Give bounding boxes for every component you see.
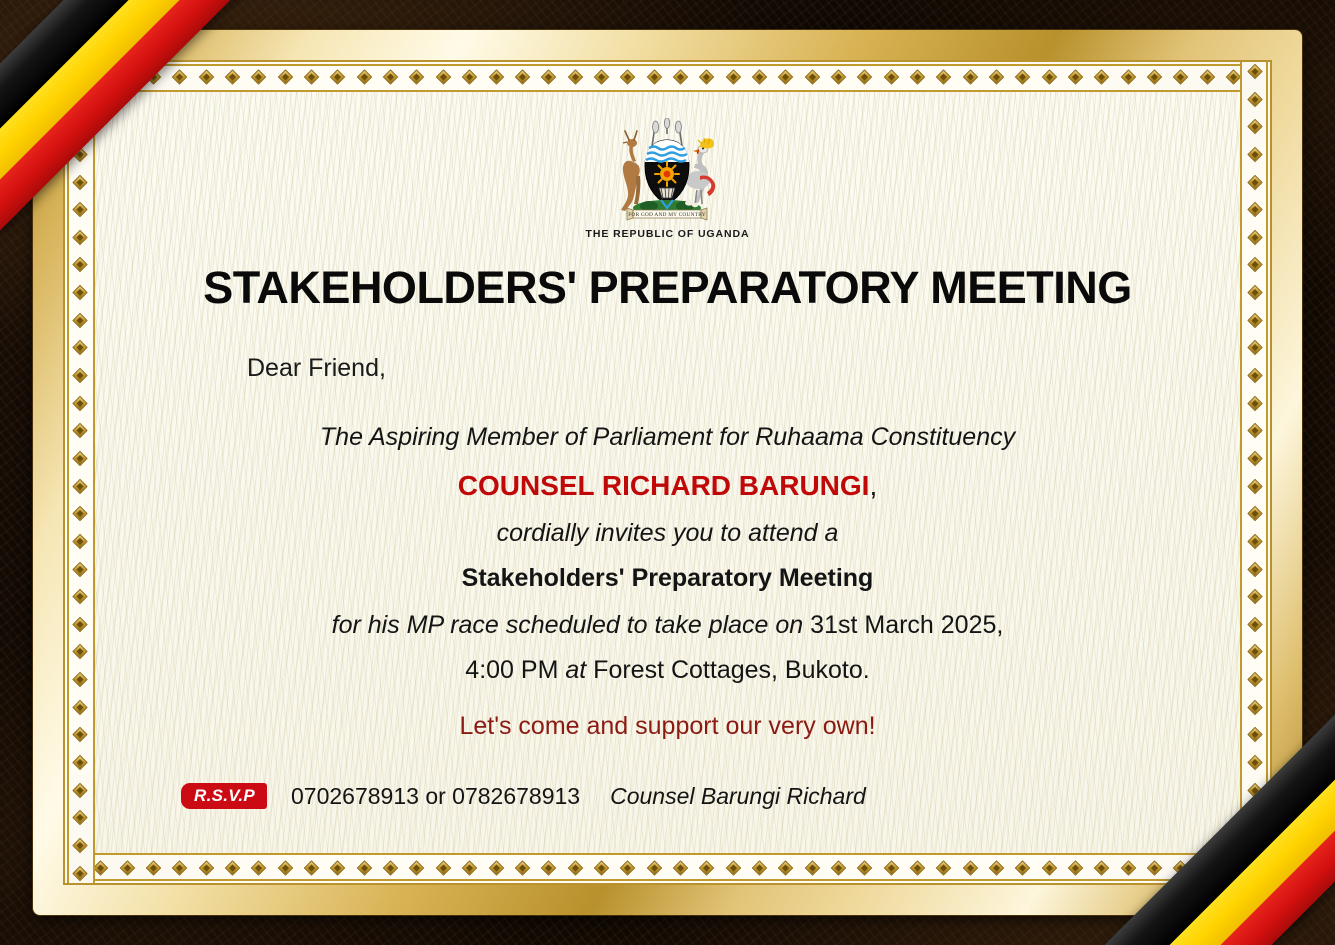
- border-motif-right: [1240, 62, 1270, 883]
- border-diamond: [93, 70, 109, 85]
- border-diamond: [1248, 230, 1263, 246]
- border-diamond: [251, 861, 267, 876]
- border-diamond: [1015, 70, 1031, 85]
- event-name-line: Stakeholders' Preparatory Meeting: [95, 564, 1240, 594]
- border-diamond: [357, 70, 373, 85]
- border-diamond: [1248, 589, 1263, 605]
- letter-body: The Aspiring Member of Parliament for Ru…: [95, 423, 1240, 741]
- border-diamond: [962, 70, 978, 85]
- call-to-action: Let's come and support our very own!: [95, 712, 1240, 741]
- border-diamond: [1248, 119, 1263, 135]
- border-diamond: [1248, 838, 1263, 854]
- purpose-text: for his MP race scheduled to take place …: [332, 611, 804, 639]
- border-diamond: [1248, 202, 1263, 218]
- border-diamond: [172, 70, 188, 85]
- border-diamond: [1248, 699, 1263, 715]
- border-diamond: [1094, 70, 1110, 85]
- border-diamond: [1248, 340, 1263, 356]
- border-diamond: [1248, 672, 1263, 688]
- border-diamond: [462, 70, 478, 85]
- border-diamond: [330, 861, 346, 876]
- border-diamond: [804, 70, 820, 85]
- border-diamond: [1248, 865, 1263, 881]
- paper-surface: FOR GOD AND MY COUNTRY THE REPUBLIC OF U…: [95, 92, 1240, 853]
- border-diamond: [1248, 147, 1263, 163]
- border-diamond: [541, 861, 557, 876]
- border-diamond: [620, 70, 636, 85]
- border-diamond: [594, 861, 610, 876]
- border-diamond: [73, 534, 88, 550]
- border-diamond: [73, 699, 88, 715]
- border-diamond: [910, 70, 926, 85]
- border-diamond: [699, 70, 715, 85]
- border-diamond: [1248, 506, 1263, 522]
- border-diamond: [73, 451, 88, 467]
- border-diamond: [1248, 534, 1263, 550]
- border-diamond: [883, 70, 899, 85]
- border-diamond: [146, 861, 162, 876]
- border-motif-left: [65, 62, 95, 883]
- border-diamond: [73, 589, 88, 605]
- border-diamond: [146, 70, 162, 85]
- border-diamond: [73, 91, 88, 107]
- border-diamond: [251, 70, 267, 85]
- border-diamond: [1248, 644, 1263, 660]
- border-diamond: [73, 810, 88, 826]
- border-diamond: [1248, 782, 1263, 798]
- border-diamond: [620, 861, 636, 876]
- border-diamond: [936, 861, 952, 876]
- border-diamond: [73, 865, 88, 881]
- border-diamond: [73, 672, 88, 688]
- border-diamond: [1248, 174, 1263, 190]
- border-diamond: [936, 70, 952, 85]
- rsvp-phone-numbers[interactable]: 0702678913 or 0782678913: [291, 783, 580, 810]
- event-date: 31st March 2025,: [810, 611, 1003, 639]
- border-diamond: [1248, 285, 1263, 301]
- rsvp-signature: Counsel Barungi Richard: [610, 783, 866, 810]
- border-diamond: [73, 312, 88, 328]
- border-diamond: [1248, 64, 1263, 80]
- border-diamond: [73, 174, 88, 190]
- border-diamond: [1173, 861, 1189, 876]
- border-diamond: [699, 861, 715, 876]
- border-diamond: [488, 861, 504, 876]
- border-diamond: [778, 70, 794, 85]
- shield-icon: [645, 140, 689, 204]
- border-diamond: [73, 478, 88, 494]
- gold-frame: FOR GOD AND MY COUNTRY THE REPUBLIC OF U…: [33, 30, 1302, 915]
- frame-inner-rule: FOR GOD AND MY COUNTRY THE REPUBLIC OF U…: [63, 60, 1272, 885]
- border-diamond: [831, 70, 847, 85]
- border-diamond: [594, 70, 610, 85]
- invitation-card: FOR GOD AND MY COUNTRY THE REPUBLIC OF U…: [0, 0, 1335, 945]
- border-diamond: [436, 70, 452, 85]
- border-diamond: [883, 861, 899, 876]
- border-diamond: [831, 861, 847, 876]
- border-diamond: [1068, 70, 1084, 85]
- border-diamond: [73, 782, 88, 798]
- at-word: at: [565, 656, 586, 684]
- border-diamond: [1147, 70, 1163, 85]
- border-diamond: [673, 861, 689, 876]
- motto-text: FOR GOD AND MY COUNTRY: [629, 212, 707, 218]
- border-diamond: [73, 119, 88, 135]
- kob-antelope-icon: [621, 131, 640, 211]
- sun-icon: [655, 162, 679, 186]
- border-diamond: [1248, 755, 1263, 771]
- border-diamond: [1248, 451, 1263, 467]
- border-diamond: [1248, 561, 1263, 577]
- border-diamond: [646, 70, 662, 85]
- border-diamond: [1200, 861, 1216, 876]
- border-diamond: [93, 861, 109, 876]
- host-name-comma: ,: [869, 470, 877, 501]
- border-diamond: [541, 70, 557, 85]
- border-diamond: [515, 70, 531, 85]
- host-name: COUNSEL RICHARD BARUNGI: [458, 470, 870, 501]
- border-diamond: [304, 861, 320, 876]
- border-diamond: [752, 861, 768, 876]
- border-diamond: [1068, 861, 1084, 876]
- border-diamond: [962, 861, 978, 876]
- border-diamond: [73, 340, 88, 356]
- border-diamond: [1015, 861, 1031, 876]
- border-diamond: [1248, 617, 1263, 633]
- border-diamond: [383, 70, 399, 85]
- border-diamond: [567, 70, 583, 85]
- border-diamond: [1094, 861, 1110, 876]
- motto-ribbon: FOR GOD AND MY COUNTRY: [627, 208, 707, 220]
- intro-line: The Aspiring Member of Parliament for Ru…: [95, 423, 1240, 453]
- border-diamond: [1248, 395, 1263, 411]
- border-diamond: [73, 755, 88, 771]
- border-diamond: [330, 70, 346, 85]
- border-diamond: [277, 861, 293, 876]
- border-diamond: [515, 861, 531, 876]
- border-diamond: [1173, 70, 1189, 85]
- event-venue: Forest Cottages, Bukoto.: [593, 656, 870, 684]
- border-diamond: [73, 644, 88, 660]
- border-diamond: [73, 506, 88, 522]
- border-diamond: [73, 561, 88, 577]
- border-diamond: [673, 70, 689, 85]
- border-diamond: [488, 70, 504, 85]
- border-diamond: [910, 861, 926, 876]
- border-diamond: [73, 202, 88, 218]
- border-diamond: [646, 861, 662, 876]
- border-diamond: [304, 70, 320, 85]
- border-diamond: [73, 64, 88, 80]
- border-diamond: [1120, 861, 1136, 876]
- border-diamond: [1041, 861, 1057, 876]
- venue-line: 4:00 PM at Forest Cottages, Bukoto.: [95, 656, 1240, 686]
- border-diamond: [409, 861, 425, 876]
- border-diamond: [73, 617, 88, 633]
- border-diamond: [73, 838, 88, 854]
- border-diamond: [1248, 91, 1263, 107]
- border-diamond: [436, 861, 452, 876]
- border-diamond: [119, 70, 135, 85]
- uganda-coat-of-arms-icon: FOR GOD AND MY COUNTRY: [603, 118, 731, 226]
- border-diamond: [1248, 368, 1263, 384]
- invite-phrase-line: cordially invites you to attend a: [95, 519, 1240, 549]
- border-diamond: [1248, 810, 1263, 826]
- page-title: STAKEHOLDERS' PREPARATORY MEETING: [203, 262, 1131, 314]
- border-diamond: [1248, 257, 1263, 273]
- salutation: Dear Friend,: [247, 354, 386, 383]
- border-diamond: [409, 70, 425, 85]
- border-diamond: [778, 861, 794, 876]
- border-diamond: [857, 70, 873, 85]
- grey-crowned-crane-icon: [686, 138, 715, 204]
- rsvp-badge: R.S.V.P: [181, 783, 267, 809]
- schedule-line: for his MP race scheduled to take place …: [95, 611, 1240, 641]
- host-name-line: COUNSEL RICHARD BARUNGI,: [95, 469, 1240, 502]
- border-diamond: [752, 70, 768, 85]
- border-diamond: [1248, 478, 1263, 494]
- border-diamond: [804, 861, 820, 876]
- rsvp-row: R.S.V.P 0702678913 or 0782678913 Counsel…: [95, 783, 866, 810]
- border-diamond: [73, 423, 88, 439]
- border-diamond: [1200, 70, 1216, 85]
- border-diamond: [462, 861, 478, 876]
- border-diamond: [198, 861, 214, 876]
- border-diamond: [1041, 70, 1057, 85]
- border-diamond: [225, 861, 241, 876]
- border-motif-top: [65, 62, 1270, 92]
- border-diamond: [73, 230, 88, 246]
- border-motif-bottom: [65, 853, 1270, 883]
- border-diamond: [1248, 727, 1263, 743]
- border-diamond: [1248, 312, 1263, 328]
- border-diamond: [225, 70, 241, 85]
- border-diamond: [357, 861, 373, 876]
- border-diamond: [172, 861, 188, 876]
- border-diamond: [73, 257, 88, 273]
- border-diamond: [989, 70, 1005, 85]
- border-diamond: [1248, 423, 1263, 439]
- border-diamond: [725, 861, 741, 876]
- border-diamond: [73, 395, 88, 411]
- border-diamond: [1120, 70, 1136, 85]
- drum-icon: [659, 188, 675, 198]
- border-diamond: [277, 70, 293, 85]
- border-diamond: [567, 861, 583, 876]
- border-diamond: [198, 70, 214, 85]
- border-diamond: [725, 70, 741, 85]
- border-diamond: [989, 861, 1005, 876]
- border-diamond: [119, 861, 135, 876]
- border-diamond: [73, 727, 88, 743]
- border-diamond: [1147, 861, 1163, 876]
- event-time: 4:00 PM: [465, 656, 558, 684]
- crest-caption: THE REPUBLIC OF UGANDA: [586, 228, 750, 240]
- border-diamond: [73, 285, 88, 301]
- border-diamond: [73, 368, 88, 384]
- coat-of-arms: FOR GOD AND MY COUNTRY THE REPUBLIC OF U…: [586, 118, 750, 240]
- border-diamond: [857, 861, 873, 876]
- border-diamond: [73, 147, 88, 163]
- border-diamond: [383, 861, 399, 876]
